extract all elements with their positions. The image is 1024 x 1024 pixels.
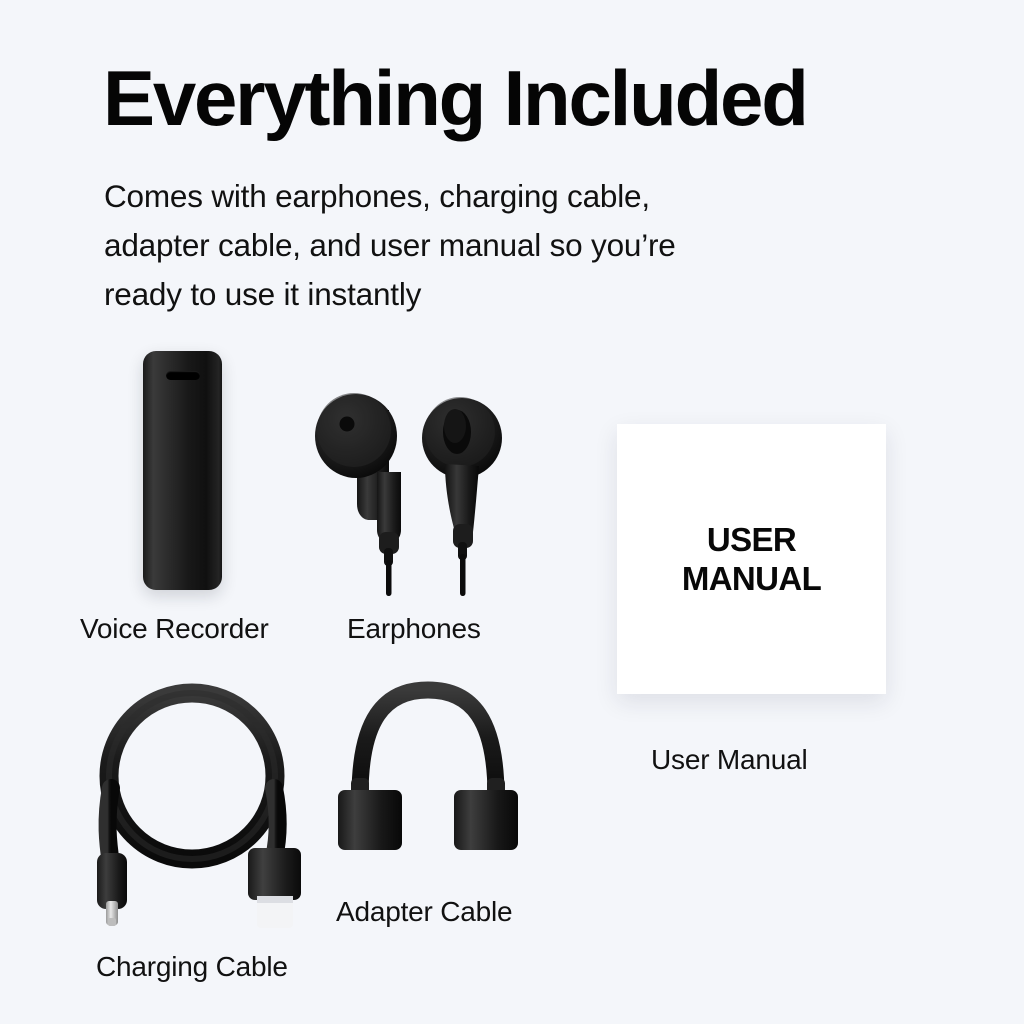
adapter-cable-icon [338, 678, 518, 850]
subtitle-line-2: adapter cable, and user manual so you’re [104, 221, 844, 270]
adapter-cable-label: Adapter Cable [336, 896, 512, 928]
infographic-canvas: Everything Included Comes with earphones… [0, 0, 1024, 1024]
recorder-microphone-slot-icon [166, 371, 200, 380]
charging-cable-icon [78, 668, 318, 933]
earbud-right [422, 397, 502, 596]
user-manual-cover-title: USER MANUAL [682, 520, 821, 598]
subtitle-line-3: ready to use it instantly [104, 270, 844, 319]
earphones-icon [305, 352, 515, 600]
voice-recorder-label: Voice Recorder [80, 613, 269, 645]
voice-recorder-icon [143, 351, 222, 590]
manual-cover-line-2: MANUAL [682, 559, 821, 598]
page-subtitle: Comes with earphones, charging cable, ad… [104, 172, 844, 319]
earbud-left [315, 393, 401, 596]
manual-cover-line-1: USER [682, 520, 821, 559]
user-manual-label: User Manual [651, 744, 808, 776]
page-title: Everything Included [103, 56, 963, 140]
earphones-label: Earphones [347, 613, 481, 645]
charging-cable-label: Charging Cable [96, 951, 288, 983]
subtitle-line-1: Comes with earphones, charging cable, [104, 172, 844, 221]
user-manual-icon: USER MANUAL [617, 424, 886, 694]
